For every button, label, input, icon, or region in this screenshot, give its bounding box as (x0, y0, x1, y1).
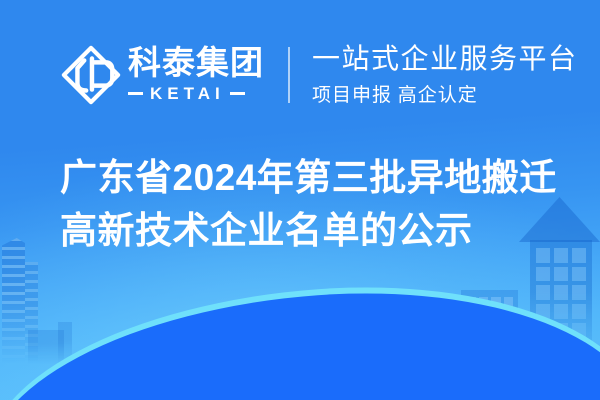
brand-name-en: KETAI (150, 84, 225, 104)
slogan-sub-text: 项目申报 高企认定 (312, 80, 578, 107)
brand-header: 科泰集团 KETAI 一站式企业服务平台 项目申报 高企认定 (60, 36, 578, 114)
brand-name-en-row: KETAI (128, 84, 264, 104)
dash-left-icon (128, 92, 143, 95)
brand-wordmark: 科泰集团 KETAI (128, 46, 264, 104)
building-tower-left-striped (2, 238, 25, 363)
page-title: 广东省2024年第三批异地搬迁高新技术企业名单的公示 (60, 152, 580, 257)
slogan-block: 一站式企业服务平台 项目申报 高企认定 (312, 43, 578, 107)
brand-name-cn: 科泰集团 (128, 46, 264, 81)
promo-banner: 科泰集团 KETAI 一站式企业服务平台 项目申报 高企认定 广东省2024年第… (0, 0, 600, 400)
vertical-divider (288, 47, 290, 103)
slogan-main-text: 一站式企业服务平台 (312, 43, 578, 75)
ketai-diamond-monogram-icon (60, 44, 122, 106)
dash-right-icon (230, 92, 245, 95)
